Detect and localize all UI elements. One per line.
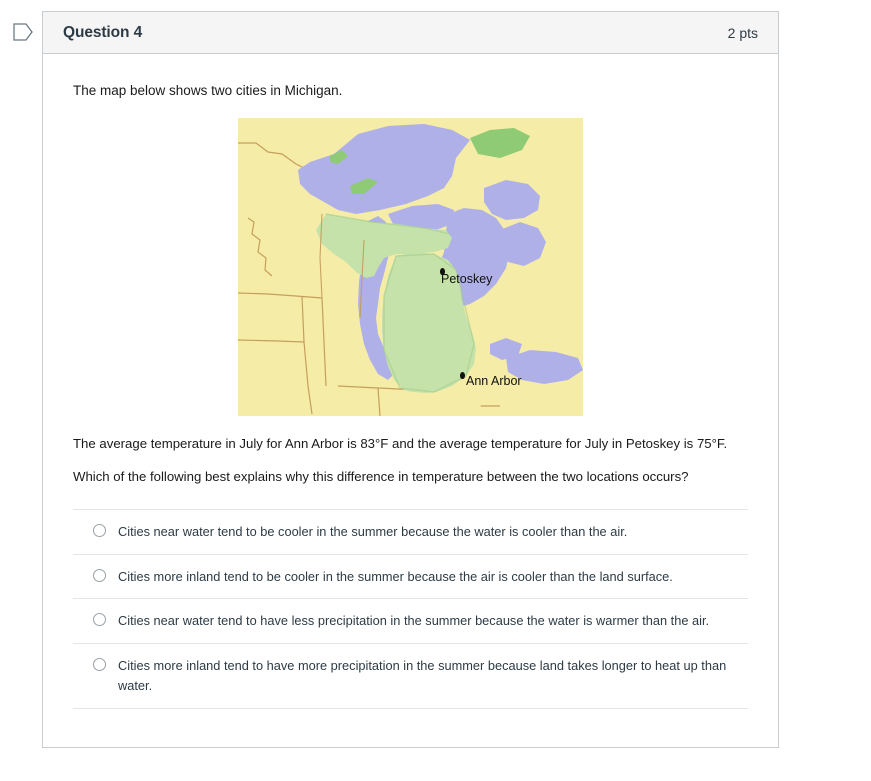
answer-option-label: Cities more inland tend to be cooler in … (118, 567, 673, 587)
question-body: The map below shows two cities in Michig… (43, 54, 778, 709)
city-marker-ann-arbor (460, 372, 465, 379)
radio-button-icon[interactable] (93, 524, 106, 537)
map-svg (238, 118, 583, 416)
question-stem: The average temperature in July for Ann … (73, 435, 748, 486)
flag-outline-icon[interactable] (13, 23, 33, 41)
city-label-petoskey: Petoskey (441, 272, 492, 286)
question-intro-text: The map below shows two cities in Michig… (73, 82, 748, 100)
answer-options-list: Cities near water tend to be cooler in t… (73, 509, 748, 709)
temperature-statement: The average temperature in July for Ann … (73, 435, 748, 454)
quiz-question-page: Question 4 2 pts The map below shows two… (0, 0, 871, 781)
radio-button-icon[interactable] (93, 613, 106, 626)
answer-option-label: Cities more inland tend to have more pre… (118, 656, 748, 696)
michigan-map-image: Petoskey Ann Arbor (238, 118, 583, 416)
question-prompt: Which of the following best explains why… (73, 468, 748, 487)
radio-button-icon[interactable] (93, 658, 106, 671)
question-header: Question 4 2 pts (43, 12, 778, 54)
answer-option-label: Cities near water tend to be cooler in t… (118, 522, 627, 542)
answer-option-d[interactable]: Cities more inland tend to have more pre… (73, 644, 748, 709)
city-label-ann-arbor: Ann Arbor (466, 374, 522, 388)
radio-button-icon[interactable] (93, 569, 106, 582)
question-points: 2 pts (728, 25, 758, 41)
answer-option-c[interactable]: Cities near water tend to have less prec… (73, 599, 748, 644)
answer-option-b[interactable]: Cities more inland tend to be cooler in … (73, 555, 748, 600)
map-figure: Petoskey Ann Arbor (73, 118, 748, 416)
answer-option-a[interactable]: Cities near water tend to be cooler in t… (73, 510, 748, 555)
question-card: Question 4 2 pts The map below shows two… (42, 11, 779, 748)
answer-option-label: Cities near water tend to have less prec… (118, 611, 709, 631)
page-title: Question 4 (63, 24, 142, 42)
